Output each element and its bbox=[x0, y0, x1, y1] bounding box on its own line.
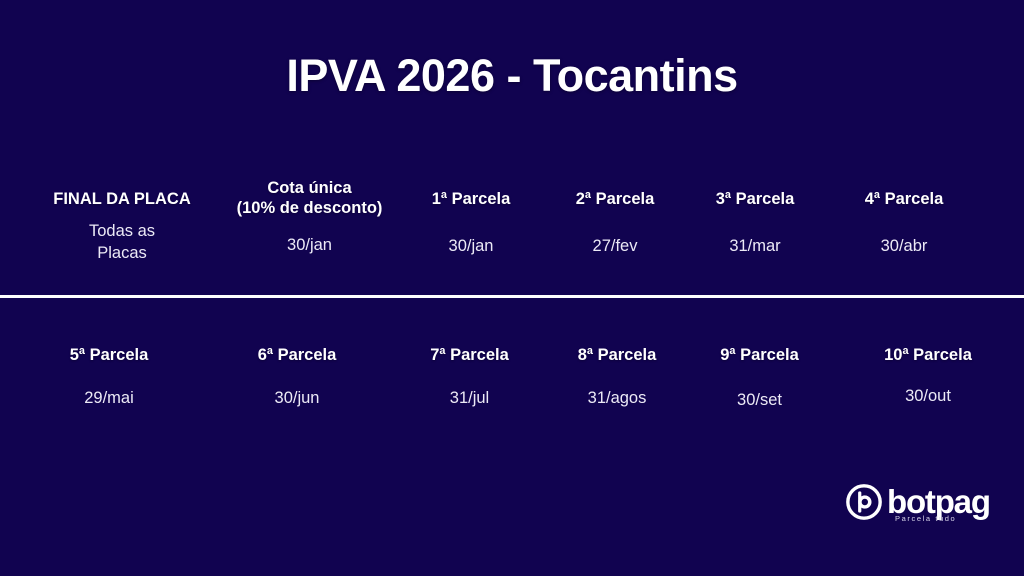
table-cell: 5ª Parcela 29/mai bbox=[0, 345, 202, 409]
table-cell: 8ª Parcela 31/agos bbox=[547, 345, 687, 409]
table-cell: 6ª Parcela 30/jun bbox=[202, 345, 392, 409]
column-value: 31/mar bbox=[729, 235, 780, 257]
table-cell: 1ª Parcela 30/jan bbox=[397, 178, 545, 257]
column-value: 30/jan bbox=[449, 235, 494, 257]
column-header: Cota única (10% de desconto) bbox=[237, 178, 383, 218]
column-header: 8ª Parcela bbox=[578, 345, 657, 365]
column-header: 1ª Parcela bbox=[432, 189, 511, 209]
table-cell: 7ª Parcela 31/jul bbox=[392, 345, 547, 409]
table-cell: 3ª Parcela 31/mar bbox=[685, 178, 825, 257]
slide-root: IPVA 2026 - Tocantins FINAL DA PLACA Tod… bbox=[0, 0, 1024, 576]
column-header: 4ª Parcela bbox=[865, 189, 944, 209]
column-header: 10ª Parcela bbox=[884, 345, 972, 365]
column-value: 30/abr bbox=[881, 235, 928, 257]
column-value: Todas as Placas bbox=[89, 220, 155, 264]
table-row: FINAL DA PLACA Todas as Placas Cota únic… bbox=[0, 178, 1024, 264]
row-divider bbox=[0, 295, 1024, 298]
table-cell: 9ª Parcela 30/set bbox=[687, 345, 832, 411]
column-value: 30/set bbox=[737, 389, 782, 411]
botpag-circle-b-icon bbox=[845, 483, 883, 521]
column-header: 9ª Parcela bbox=[720, 345, 799, 365]
column-value: 30/jan bbox=[287, 234, 332, 256]
brand-logo: botpag Parcela tudo bbox=[845, 478, 995, 526]
column-value: 30/out bbox=[905, 385, 951, 407]
column-header: 2ª Parcela bbox=[576, 189, 655, 209]
table-cell: 10ª Parcela 30/out bbox=[832, 345, 1024, 407]
column-header: 5ª Parcela bbox=[70, 345, 149, 365]
column-value: 31/agos bbox=[588, 387, 647, 409]
column-header: 3ª Parcela bbox=[716, 189, 795, 209]
logo-text-wrap: botpag Parcela tudo bbox=[887, 483, 990, 521]
column-value: 31/jul bbox=[450, 387, 489, 409]
logo-tagline: Parcela tudo bbox=[895, 515, 956, 523]
column-header: FINAL DA PLACA bbox=[53, 189, 191, 209]
column-value: 29/mai bbox=[84, 387, 134, 409]
column-header: 6ª Parcela bbox=[258, 345, 337, 365]
table-cell: FINAL DA PLACA Todas as Placas bbox=[0, 178, 222, 264]
table-cell: 2ª Parcela 27/fev bbox=[545, 178, 685, 257]
column-header: 7ª Parcela bbox=[430, 345, 509, 365]
page-title: IPVA 2026 - Tocantins bbox=[0, 50, 1024, 102]
column-value: 27/fev bbox=[593, 235, 638, 257]
table-row: 5ª Parcela 29/mai 6ª Parcela 30/jun 7ª P… bbox=[0, 345, 1024, 411]
column-value: 30/jun bbox=[275, 387, 320, 409]
table-cell: Cota única (10% de desconto) 30/jan bbox=[222, 178, 397, 256]
table-cell: 4ª Parcela 30/abr bbox=[825, 178, 995, 257]
